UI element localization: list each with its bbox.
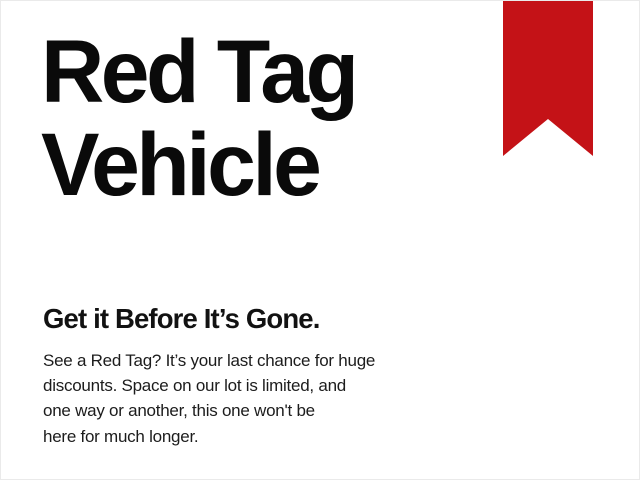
ribbon-shape [503, 0, 593, 156]
promo-card: Red Tag Vehicle Get it Before It’s Gone.… [0, 0, 640, 480]
red-tag-ribbon-icon [503, 0, 593, 156]
page-title: Red Tag Vehicle [41, 25, 356, 211]
body-copy: See a Red Tag? It’s your last chance for… [43, 348, 375, 449]
subheadline: Get it Before It’s Gone. [43, 304, 320, 334]
